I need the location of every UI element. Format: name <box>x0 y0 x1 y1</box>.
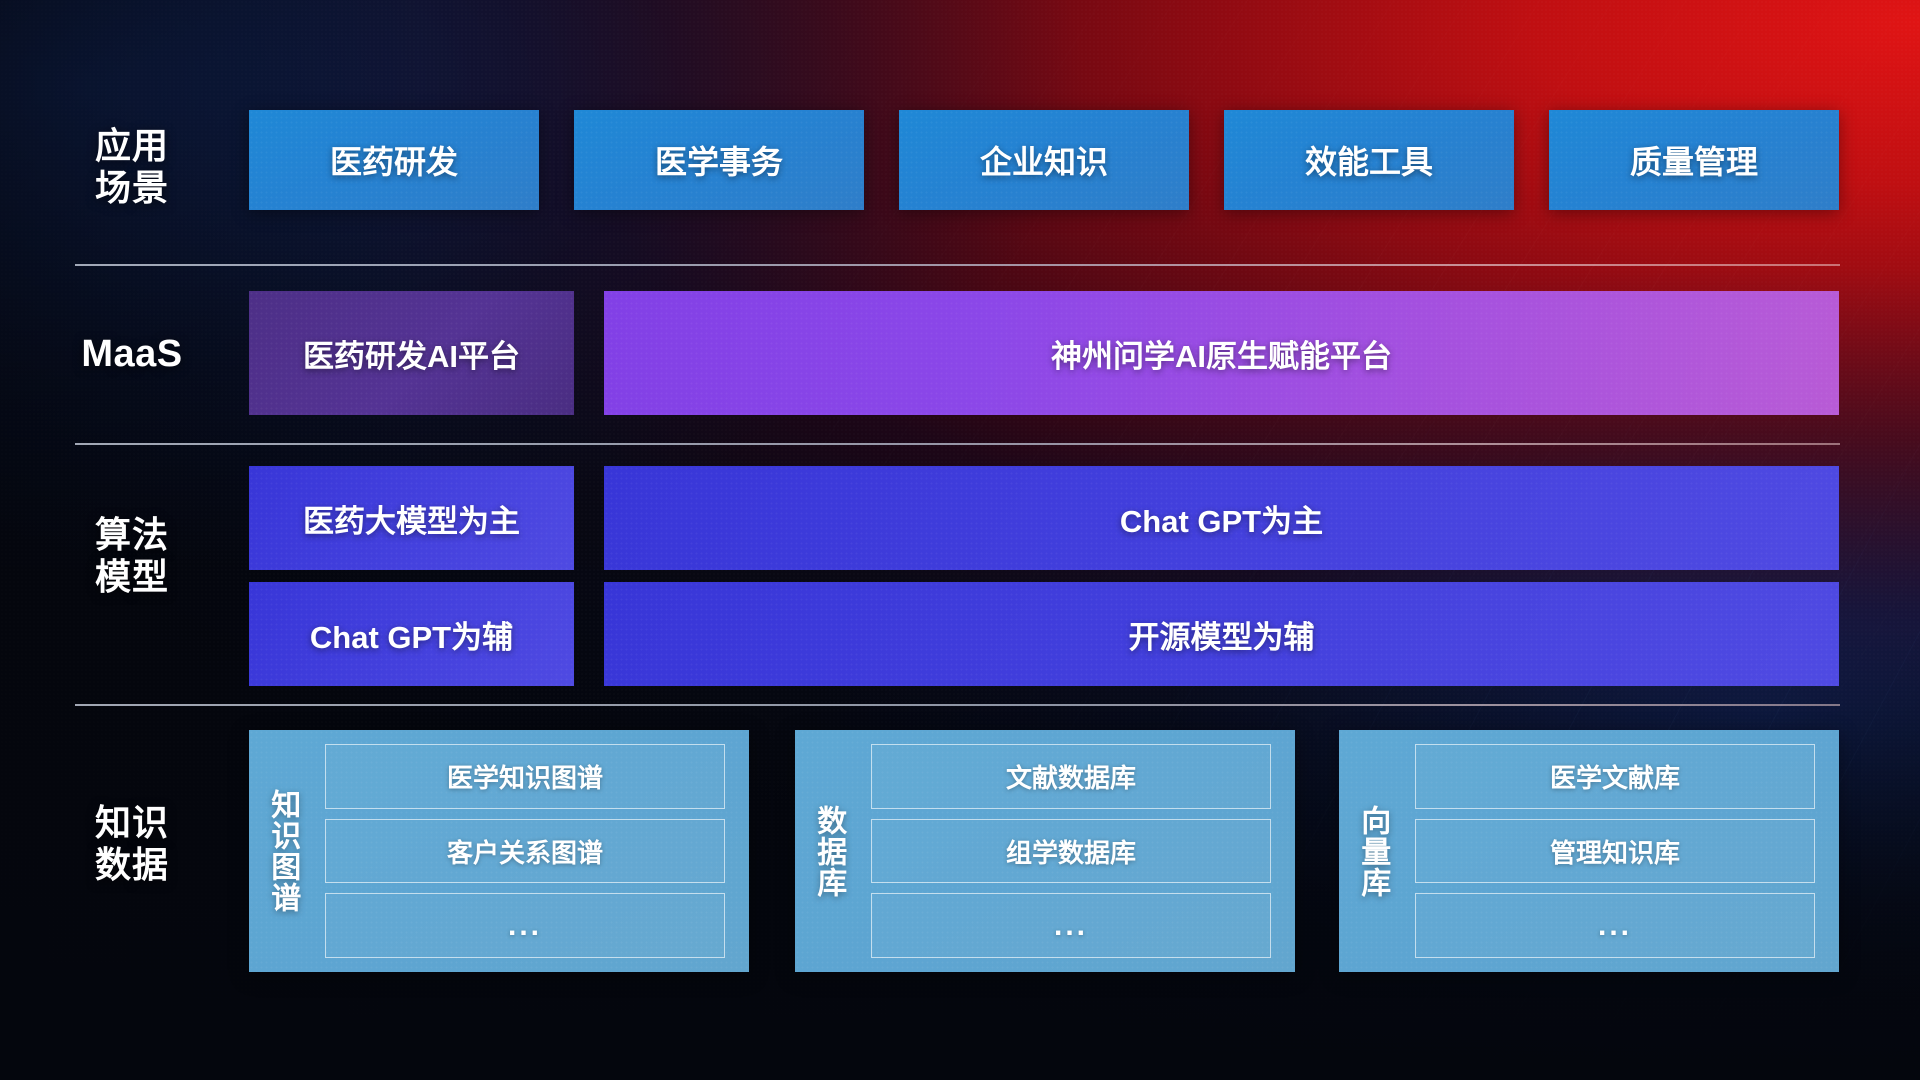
knowledge-group-knowledge-graph[interactable]: 知识图谱 医学知识图谱 客户关系图谱 ... <box>249 730 749 972</box>
knowledge-item-medical-literature-store[interactable]: 医学文献库 <box>1415 744 1815 809</box>
maas-box-pharma-ai-platform[interactable]: 医药研发AI平台 <box>249 291 574 415</box>
knowledge-item-management-knowledge-store[interactable]: 管理知识库 <box>1415 819 1815 884</box>
knowledge-group-database[interactable]: 数据库 文献数据库 组学数据库 ... <box>795 730 1295 972</box>
row-separator-3 <box>75 704 1840 706</box>
app-box-enterprise-knowledge[interactable]: 企业知识 <box>899 110 1189 210</box>
app-box-efficiency-tools-label: 效能工具 <box>1305 137 1433 183</box>
row-label-algorithm-models: 算法 模型 <box>62 514 202 598</box>
algo-box-chatgpt-secondary-label: Chat GPT为辅 <box>310 612 513 657</box>
architecture-diagram: 应用 场景 医药研发 医学事务 企业知识 效能工具 质量管理 MaaS 医药研发… <box>0 0 1920 1080</box>
maas-box-shenzhou-wenxue-platform-label: 神州问学AI原生赋能平台 <box>1051 331 1392 376</box>
row-label-knowledge-data: 知识 数据 <box>62 802 202 886</box>
algo-box-chatgpt-primary-label: Chat GPT为主 <box>1120 496 1323 541</box>
knowledge-item-more-vector-store[interactable]: ... <box>1415 893 1815 958</box>
algo-box-pharma-large-model-primary[interactable]: 医药大模型为主 <box>249 466 574 570</box>
algo-box-chatgpt-primary[interactable]: Chat GPT为主 <box>604 466 1839 570</box>
row-separator-1 <box>75 264 1840 266</box>
row-label-maas: MaaS <box>62 332 202 376</box>
app-box-medical-affairs-label: 医学事务 <box>655 137 783 183</box>
app-box-medical-affairs[interactable]: 医学事务 <box>574 110 864 210</box>
app-box-efficiency-tools[interactable]: 效能工具 <box>1224 110 1514 210</box>
app-box-enterprise-knowledge-label: 企业知识 <box>980 137 1108 183</box>
algo-box-pharma-large-model-primary-label: 医药大模型为主 <box>303 496 520 541</box>
knowledge-item-customer-relation-graph[interactable]: 客户关系图谱 <box>325 819 725 884</box>
knowledge-group-vector-store[interactable]: 向量库 医学文献库 管理知识库 ... <box>1339 730 1839 972</box>
algo-box-open-source-secondary[interactable]: 开源模型为辅 <box>604 582 1839 686</box>
app-box-pharma-rnd-label: 医药研发 <box>330 137 458 183</box>
maas-box-pharma-ai-platform-label: 医药研发AI平台 <box>303 331 520 376</box>
knowledge-item-literature-database[interactable]: 文献数据库 <box>871 744 1271 809</box>
algo-box-chatgpt-secondary[interactable]: Chat GPT为辅 <box>249 582 574 686</box>
app-box-quality-management[interactable]: 质量管理 <box>1549 110 1839 210</box>
knowledge-item-more-database[interactable]: ... <box>871 893 1271 958</box>
knowledge-group-vector-store-items: 医学文献库 管理知识库 ... <box>1405 730 1839 972</box>
knowledge-group-vector-store-title: 向量库 <box>1339 730 1405 972</box>
knowledge-item-more-knowledge-graph[interactable]: ... <box>325 893 725 958</box>
knowledge-group-knowledge-graph-title: 知识图谱 <box>249 730 315 972</box>
app-box-pharma-rnd[interactable]: 医药研发 <box>249 110 539 210</box>
app-box-quality-management-label: 质量管理 <box>1630 137 1758 183</box>
knowledge-item-omics-database[interactable]: 组学数据库 <box>871 819 1271 884</box>
knowledge-group-database-items: 文献数据库 组学数据库 ... <box>861 730 1295 972</box>
row-label-application-scenarios: 应用 场景 <box>62 125 202 209</box>
row-separator-2 <box>75 443 1840 445</box>
knowledge-item-medical-knowledge-graph[interactable]: 医学知识图谱 <box>325 744 725 809</box>
maas-box-shenzhou-wenxue-platform[interactable]: 神州问学AI原生赋能平台 <box>604 291 1839 415</box>
algo-box-open-source-secondary-label: 开源模型为辅 <box>1129 612 1315 657</box>
knowledge-group-knowledge-graph-items: 医学知识图谱 客户关系图谱 ... <box>315 730 749 972</box>
knowledge-group-database-title: 数据库 <box>795 730 861 972</box>
